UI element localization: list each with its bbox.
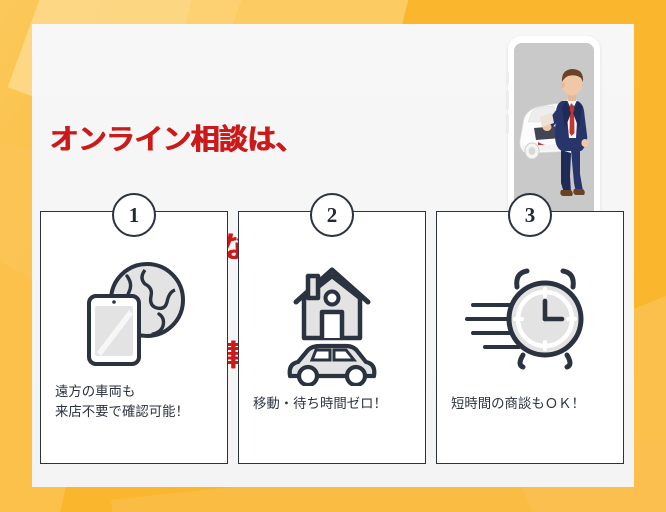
- alarm-clock-speed-icon: [437, 264, 623, 374]
- step-badge-2: 2: [310, 193, 354, 237]
- step-badge-3: 3: [508, 193, 552, 237]
- phone-button-silent: [506, 72, 509, 85]
- smartphone-mockup: [508, 36, 600, 212]
- globe-smartphone-icon: [41, 252, 227, 372]
- feature-card-1: 遠方の車両も 来店不要で確認可能！: [40, 211, 228, 464]
- feature-card-2-caption: 移動・待ち時間ゼロ！: [253, 394, 415, 414]
- phone-screen: [514, 43, 594, 212]
- promotional-poster: オンライン相談は、 経験知識豊富なスタッフが ビデオ通話で車両をご案内！: [0, 0, 666, 512]
- feature-card-1-caption: 遠方の車両も 来店不要で確認可能！: [55, 382, 217, 421]
- feature-card-3: 短時間の商談もＯＫ！: [436, 211, 624, 464]
- house-car-icon: [239, 246, 425, 386]
- feature-card-3-caption: 短時間の商談もＯＫ！: [451, 394, 613, 414]
- step-badge-2-number: 2: [327, 203, 338, 228]
- phone-button-volume-up: [506, 90, 509, 110]
- headline-line-1: オンライン相談は、: [50, 122, 417, 158]
- car-icon: [290, 346, 375, 385]
- phone-button-volume-down: [506, 114, 509, 134]
- step-badge-1: 1: [112, 193, 156, 237]
- step-badge-3-number: 3: [525, 203, 536, 228]
- house-icon: [296, 270, 368, 338]
- step-badge-1-number: 1: [129, 203, 140, 228]
- video-call-illustration-icon: [514, 43, 594, 212]
- feature-card-2: 移動・待ち時間ゼロ！: [238, 211, 426, 464]
